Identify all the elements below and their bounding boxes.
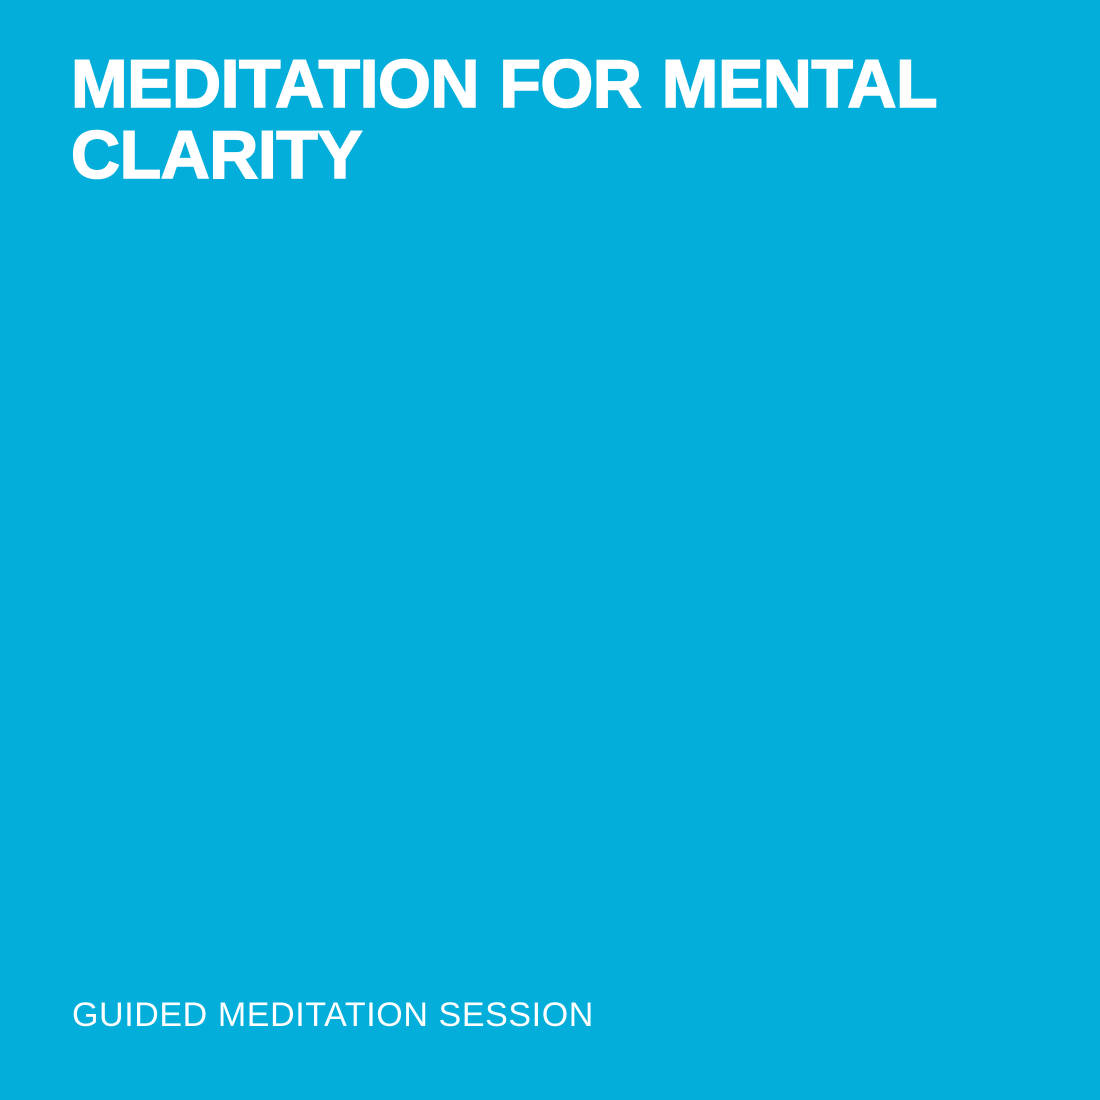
footer-block: GUIDED MEDITATION SESSION [72, 996, 594, 1034]
content-stage [71, 230, 1029, 950]
poster-canvas: MEDITATION FOR MENTAL CLARITY GUIDED MED… [0, 0, 1100, 1100]
footer-caption: GUIDED MEDITATION SESSION [72, 996, 594, 1034]
page-title: MEDITATION FOR MENTAL CLARITY [71, 49, 980, 191]
title-block: MEDITATION FOR MENTAL CLARITY [71, 49, 980, 191]
